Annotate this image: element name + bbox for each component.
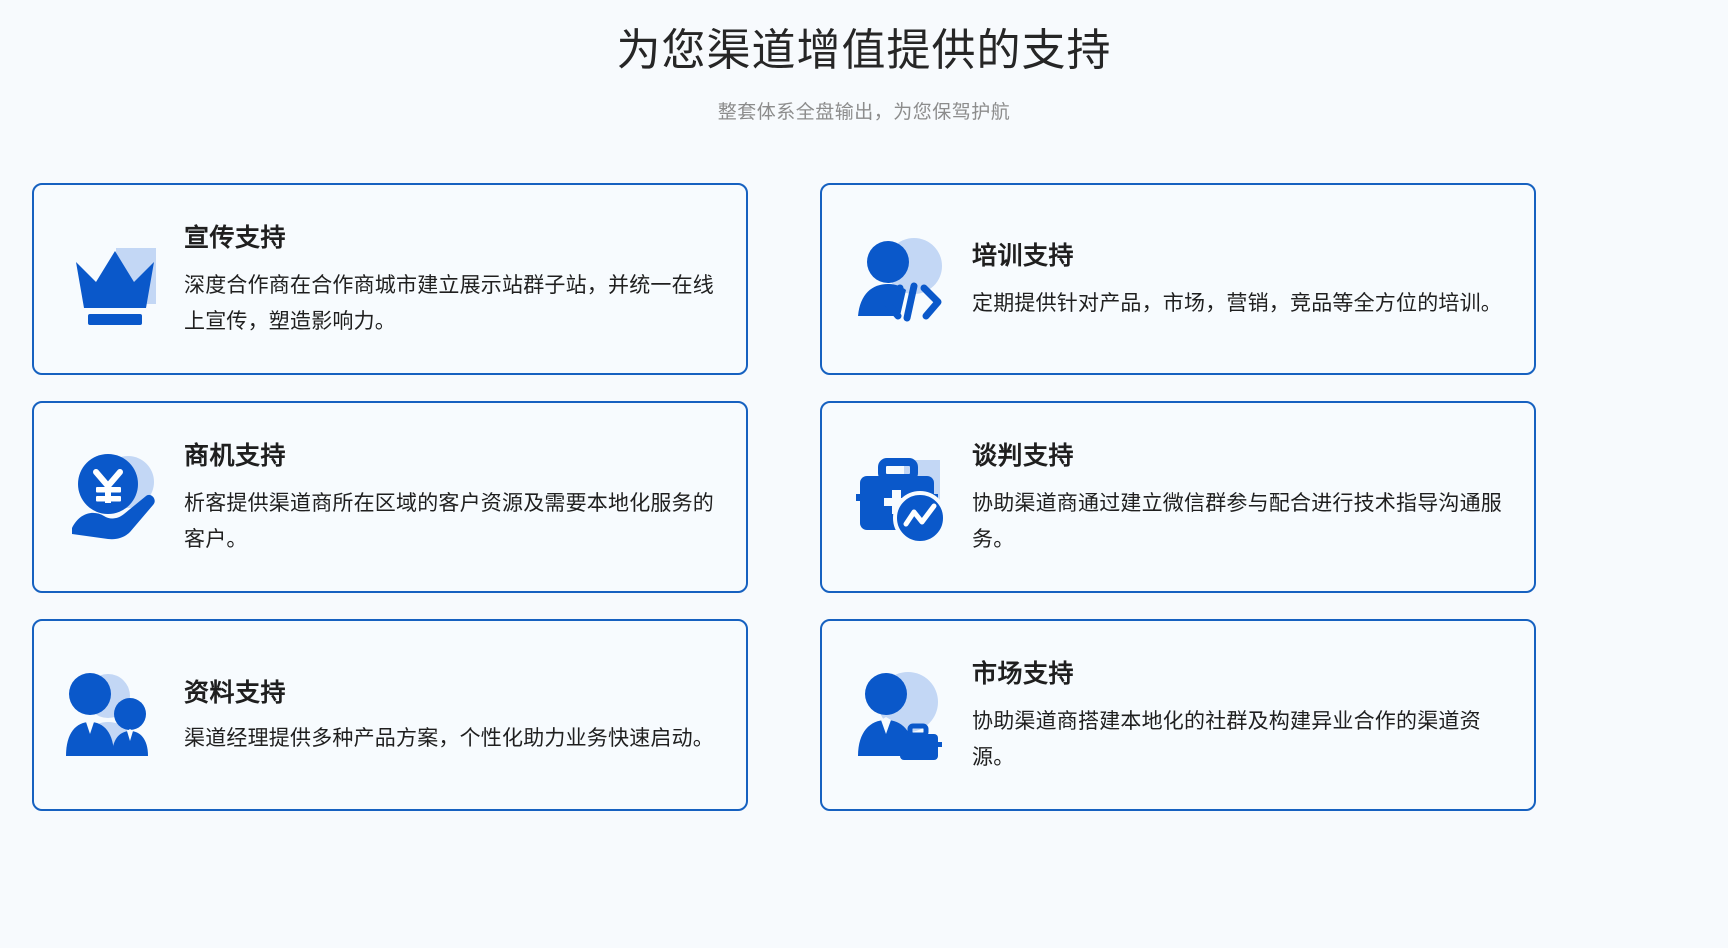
card-description: 定期提供针对产品，市场，营销，竞品等全方位的培训。 <box>972 286 1508 322</box>
page-header: 为您渠道增值提供的支持 整套体系全盘输出，为您保驾护航 <box>0 0 1728 124</box>
card-body: 资料支持 渠道经理提供多种产品方案，个性化助力业务快速启动。 <box>174 673 720 757</box>
person-code-icon <box>844 220 962 338</box>
card-description: 深度合作商在合作商城市建立展示站群子站，并统一在线上宣传，塑造影响力。 <box>184 268 720 340</box>
businessperson-briefcase-icon <box>844 656 962 774</box>
support-card-materials[interactable]: 资料支持 渠道经理提供多种产品方案，个性化助力业务快速启动。 <box>32 619 748 811</box>
support-card-training[interactable]: 培训支持 定期提供针对产品，市场，营销，竞品等全方位的培训。 <box>820 183 1536 375</box>
card-body: 宣传支持 深度合作商在合作商城市建立展示站群子站，并统一在线上宣传，塑造影响力。 <box>174 218 720 340</box>
card-title: 谈判支持 <box>972 436 1508 472</box>
card-description: 协助渠道商搭建本地化的社群及构建异业合作的渠道资源。 <box>972 704 1508 776</box>
support-card-marketing[interactable]: 市场支持 协助渠道商搭建本地化的社群及构建异业合作的渠道资源。 <box>820 619 1536 811</box>
crown-icon <box>56 220 174 338</box>
card-title: 资料支持 <box>184 673 720 709</box>
support-card-publicity[interactable]: 宣传支持 深度合作商在合作商城市建立展示站群子站，并统一在线上宣传，塑造影响力。 <box>32 183 748 375</box>
briefcase-chart-icon <box>844 438 962 556</box>
hand-yuan-coin-icon <box>56 438 174 556</box>
page-title: 为您渠道增值提供的支持 <box>0 22 1728 79</box>
card-body: 市场支持 协助渠道商搭建本地化的社群及构建异业合作的渠道资源。 <box>962 654 1508 776</box>
card-description: 协助渠道商通过建立微信群参与配合进行技术指导沟通服务。 <box>972 486 1508 558</box>
card-description: 渠道经理提供多种产品方案，个性化助力业务快速启动。 <box>184 721 720 757</box>
support-card-business-opportunity[interactable]: 商机支持 析客提供渠道商所在区域的客户资源及需要本地化服务的客户。 <box>32 401 748 593</box>
support-card-negotiation[interactable]: 谈判支持 协助渠道商通过建立微信群参与配合进行技术指导沟通服务。 <box>820 401 1536 593</box>
two-people-icon <box>56 656 174 774</box>
card-title: 宣传支持 <box>184 218 720 254</box>
card-body: 培训支持 定期提供针对产品，市场，营销，竞品等全方位的培训。 <box>962 236 1508 322</box>
card-title: 商机支持 <box>184 436 720 472</box>
card-description: 析客提供渠道商所在区域的客户资源及需要本地化服务的客户。 <box>184 486 720 558</box>
card-title: 培训支持 <box>972 236 1508 272</box>
card-title: 市场支持 <box>972 654 1508 690</box>
card-body: 谈判支持 协助渠道商通过建立微信群参与配合进行技术指导沟通服务。 <box>962 436 1508 558</box>
card-body: 商机支持 析客提供渠道商所在区域的客户资源及需要本地化服务的客户。 <box>174 436 720 558</box>
page-subtitle: 整套体系全盘输出，为您保驾护航 <box>0 97 1728 124</box>
support-cards-grid: 宣传支持 深度合作商在合作商城市建立展示站群子站，并统一在线上宣传，塑造影响力。… <box>32 183 1536 811</box>
support-page: 为您渠道增值提供的支持 整套体系全盘输出，为您保驾护航 宣传支持 深度合作商在合… <box>0 0 1728 948</box>
